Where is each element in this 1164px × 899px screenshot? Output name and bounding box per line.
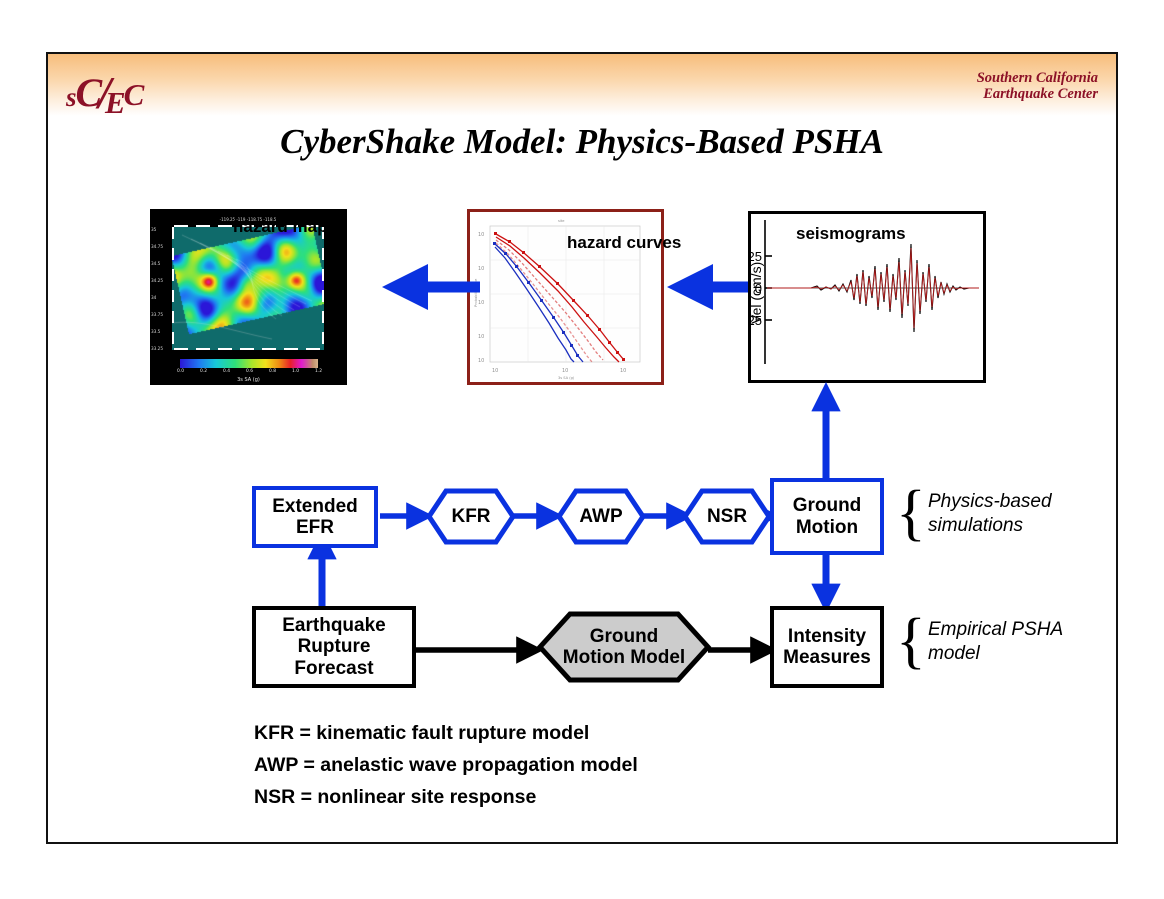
map-lat-tick: 34: [151, 295, 156, 300]
node-awp-label: AWP: [579, 506, 622, 527]
colorbar-tick: 0.2: [200, 369, 207, 374]
map-frame-tick: [196, 348, 210, 350]
scec-logo: sC/EC: [66, 64, 152, 117]
map-frame-tick: [196, 225, 210, 227]
logo-letter-c2: C: [124, 77, 144, 112]
svg-text:10: 10: [478, 334, 484, 340]
svg-text:10: 10: [492, 368, 498, 374]
logo-letter-s: s: [66, 82, 76, 112]
slide-canvas: sC/EC Southern California Earthquake Cen…: [46, 52, 1118, 844]
node-ground-motion-model[interactable]: Ground Motion Model: [536, 610, 712, 684]
svg-text:10: 10: [562, 368, 568, 374]
logo-letter-e: E: [105, 85, 125, 120]
map-lat-tick: 34.75: [151, 244, 163, 249]
svg-text:10: 10: [478, 266, 484, 272]
map-frame-tick: [284, 348, 298, 350]
node-intensity-measures[interactable]: Intensity Measures: [770, 606, 884, 688]
node-erf-label: Earthquake Rupture Forecast: [256, 615, 412, 679]
svg-text:10: 10: [478, 300, 484, 306]
map-frame-tick: [262, 348, 276, 350]
colorbar-tick: 0.8: [269, 369, 276, 374]
svg-text:25: 25: [751, 249, 762, 264]
svg-text:site: site: [558, 219, 565, 223]
map-frame-tick: [306, 348, 320, 350]
svg-text:3s SA (g): 3s SA (g): [558, 376, 575, 380]
hazard-map-label: hazard maps: [233, 217, 337, 237]
header-band: [48, 54, 1116, 116]
map-frame-tick: [172, 269, 174, 281]
svg-text:10: 10: [478, 358, 484, 364]
hazard-curves-label: hazard curves: [567, 233, 681, 253]
map-frame-tick: [172, 227, 174, 239]
colorbar-tick: 0.0: [177, 369, 184, 374]
map-frame-tick: [174, 348, 188, 350]
map-frame-tick: [322, 332, 324, 344]
map-lat-tick: 34.25: [151, 278, 163, 283]
node-earthquake-rupture-forecast[interactable]: Earthquake Rupture Forecast: [252, 606, 416, 688]
node-kfr[interactable]: KFR: [426, 488, 516, 545]
map-frame-tick: [322, 290, 324, 302]
map-frame-tick: [218, 348, 232, 350]
colorbar-tick: 1.0: [292, 369, 299, 374]
map-lat-tick: 33.5: [151, 329, 160, 334]
physics-brace: {: [896, 478, 926, 549]
map-lat-tick: 35: [151, 227, 156, 232]
org-line-2: Earthquake Center: [977, 86, 1098, 102]
colorbar-tick: 0.4: [223, 369, 230, 374]
node-intensity-measures-label: Intensity Measures: [783, 626, 871, 669]
map-frame-tick: [172, 248, 174, 260]
node-awp[interactable]: AWP: [556, 488, 646, 545]
map-lat-tick: 33.25: [151, 346, 163, 351]
node-extended-efr-label: Extended EFR: [272, 496, 358, 539]
svg-text:10: 10: [478, 232, 484, 238]
legend-line-kfr: KFR = kinematic fault rupture model: [254, 722, 589, 745]
node-kfr-label: KFR: [451, 506, 490, 527]
empirical-brace: {: [896, 606, 926, 677]
svg-text:Vel (cm/s): Vel (cm/s): [751, 262, 764, 324]
svg-text:10: 10: [620, 368, 626, 374]
node-gmm-label: Ground Motion Model: [563, 626, 685, 669]
organization-name: Southern California Earthquake Center: [977, 70, 1098, 102]
colorbar-tick: 0.6: [246, 369, 253, 374]
svg-text:Probability Rate: Probability Rate: [474, 278, 478, 307]
colorbar-tick: 1.2: [315, 369, 322, 374]
physics-side-label: Physics-based simulations: [928, 490, 1052, 538]
org-line-1: Southern California: [977, 70, 1098, 86]
map-frame-tick: [174, 225, 188, 227]
node-ground-motion[interactable]: Ground Motion: [770, 478, 884, 555]
map-frame-tick: [322, 269, 324, 281]
colorbar-title: 3s SA (g): [150, 377, 347, 383]
slide-title: CyberShake Model: Physics-Based PSHA: [48, 122, 1116, 162]
node-nsr-label: NSR: [707, 506, 747, 527]
empirical-side-label: Empirical PSHA model: [928, 618, 1063, 666]
map-frame-tick: [218, 225, 232, 227]
map-frame-tick: [172, 311, 174, 323]
map-frame-tick: [322, 311, 324, 323]
map-lat-tick: 34.5: [151, 261, 160, 266]
map-lat-tick: 33.75: [151, 312, 163, 317]
node-ground-motion-label: Ground Motion: [793, 495, 862, 538]
hazard-map-colorbar: [180, 359, 318, 368]
map-frame-tick: [322, 248, 324, 260]
map-frame-tick: [172, 332, 174, 344]
legend-line-awp: AWP = anelastic wave propagation model: [254, 754, 638, 777]
legend-line-nsr: NSR = nonlinear site response: [254, 786, 536, 809]
node-nsr[interactable]: NSR: [682, 488, 772, 545]
hazard-map-image: [172, 227, 324, 350]
map-frame-tick: [240, 348, 254, 350]
node-extended-efr[interactable]: Extended EFR: [252, 486, 378, 548]
map-frame-tick: [172, 290, 174, 302]
seismograms-label: seismograms: [796, 224, 906, 244]
